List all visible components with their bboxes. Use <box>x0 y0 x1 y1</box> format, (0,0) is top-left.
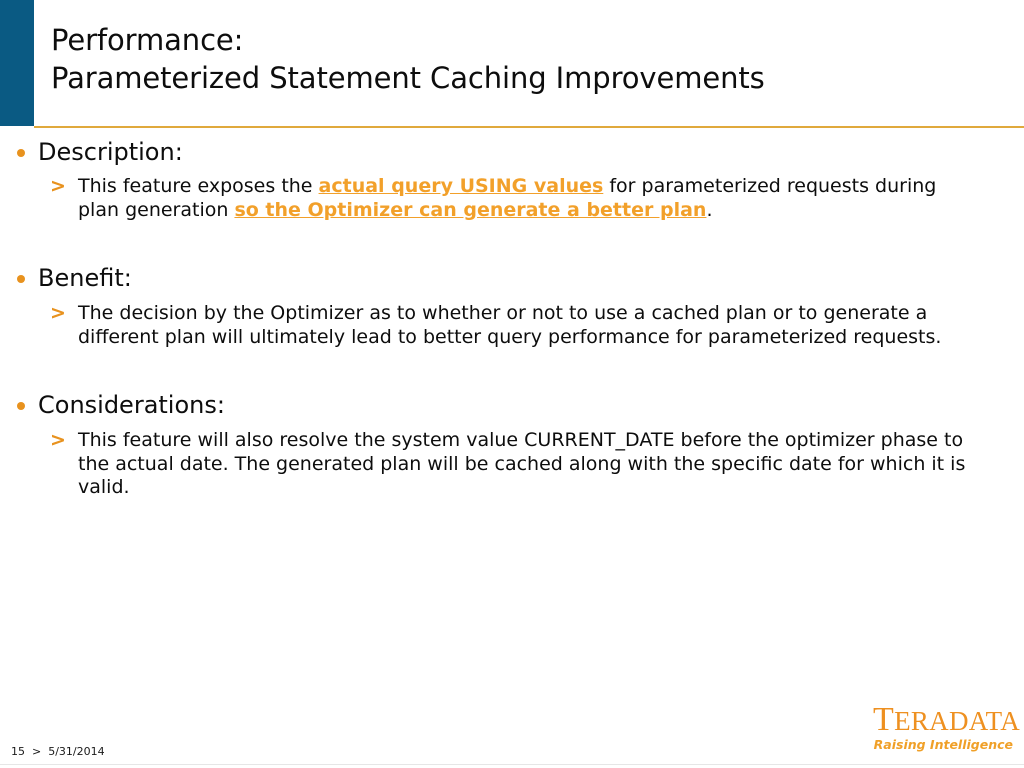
page-title-line-2: Parameterized Statement Caching Improvem… <box>51 59 1001 97</box>
section-heading-label: Considerations: <box>38 391 225 419</box>
slide-body: Description: > This feature exposes the … <box>0 131 1024 731</box>
highlight-run: actual query USING values <box>319 175 604 197</box>
slide-header: Performance: Parameterized Statement Cac… <box>0 0 1024 131</box>
section-benefit: Benefit: > The decision by the Optimizer… <box>0 263 1024 349</box>
bullet-dot-icon <box>17 402 25 410</box>
list-item: > The decision by the Optimizer as to wh… <box>0 302 1024 349</box>
brand-tagline: Raising Intelligence <box>874 737 1013 752</box>
list-item: > This feature exposes the actual query … <box>0 175 1024 222</box>
brand-wordmark: TERADATA <box>873 704 1020 737</box>
text-run: This feature exposes the <box>78 175 319 197</box>
chevron-right-icon: > <box>50 302 66 326</box>
footer-divider <box>0 764 1024 765</box>
section-considerations: Considerations: > This feature will also… <box>0 390 1024 500</box>
teradata-logo: TERADATA Raising Intelligence <box>873 704 1015 758</box>
page-title: Performance: Parameterized Statement Cac… <box>51 21 1001 97</box>
footer-slide-meta: 15 > 5/31/2014 <box>11 745 105 759</box>
bullet-dot-icon <box>17 275 25 283</box>
chevron-right-icon: > <box>50 429 66 453</box>
list-item-text: This feature exposes the actual query US… <box>78 175 936 221</box>
list-item: > This feature will also resolve the sys… <box>0 429 1024 500</box>
section-heading-label: Description: <box>38 138 183 166</box>
slide-footer: 15 > 5/31/2014 <box>0 700 1024 768</box>
section-description: Description: > This feature exposes the … <box>0 137 1024 222</box>
list-item-text: This feature will also resolve the syste… <box>78 429 965 498</box>
brand-wordmark-cap: T <box>873 701 894 738</box>
highlight-run: so the Optimizer can generate a better p… <box>234 199 706 221</box>
section-heading: Considerations: <box>0 390 1024 420</box>
text-run: . <box>706 199 712 221</box>
brand-wordmark-rest: ERADATA <box>894 706 1020 736</box>
section-heading-label: Benefit: <box>38 264 132 292</box>
section-heading: Benefit: <box>0 263 1024 293</box>
list-item-text: The decision by the Optimizer as to whet… <box>78 302 941 348</box>
left-accent-bar <box>0 0 34 126</box>
page-title-line-1: Performance: <box>51 21 1001 59</box>
bullet-dot-icon <box>17 149 25 157</box>
title-divider <box>34 126 1024 128</box>
section-heading: Description: <box>0 137 1024 167</box>
chevron-right-icon: > <box>50 175 66 199</box>
